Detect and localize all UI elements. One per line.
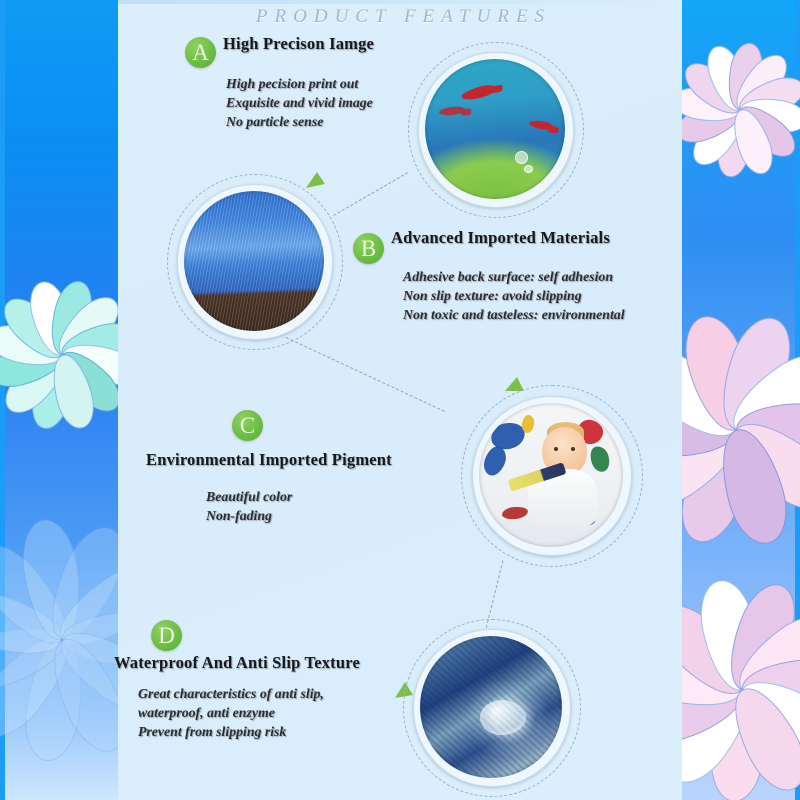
feature-body-d: Great characteristics of anti slip, wate…: [138, 684, 324, 741]
feature-d-line-1: Great characteristics of anti slip,: [138, 684, 324, 703]
koi-fish-icon: [439, 105, 466, 116]
connector-b-to-c: [286, 337, 445, 412]
feature-b-line-3: Non toxic and tasteless: environmental: [403, 305, 625, 324]
blue-fabric-photo: [165, 172, 345, 352]
paint-splatter-icon: [521, 414, 535, 433]
product-features-infographic: PRODUCT FEATURES A High Precison Iamge H…: [0, 0, 800, 800]
baby-eye: [571, 447, 575, 451]
feature-badge-b: B: [353, 233, 384, 264]
feature-b-line-1: Adhesive back surface: self adhesion: [403, 267, 625, 286]
water-bubble-icon: [515, 151, 528, 164]
feature-badge-c: C: [232, 410, 263, 441]
feature-a-line-2: Exquisite and vivid image: [226, 93, 373, 112]
water-droplet-icon: [480, 700, 527, 736]
waterproof-surface-photo: [401, 617, 583, 799]
feature-badge-a: A: [185, 37, 216, 68]
photo-b-image: [184, 191, 324, 331]
baby-eye: [554, 447, 558, 451]
feature-heading-d: Waterproof And Anti Slip Texture: [114, 653, 360, 673]
feature-b-line-2: Non slip texture: avoid slipping: [403, 286, 625, 305]
paint-splatter-icon: [588, 444, 613, 474]
feature-badge-d: D: [151, 620, 182, 651]
feature-body-c: Beautiful color Non-fading: [206, 487, 292, 525]
feature-a-line-1: High pecision print out: [226, 74, 373, 93]
feature-a-line-3: No particle sense: [226, 112, 373, 131]
feature-d-line-3: Prevent from slipping risk: [138, 722, 324, 741]
photo-d-image: [420, 636, 562, 778]
feature-heading-c: Environmental Imported Pigment: [146, 450, 392, 470]
content-panel: PRODUCT FEATURES A High Precison Iamge H…: [118, 0, 682, 800]
feature-c-line-2: Non-fading: [206, 506, 292, 525]
paint-splatter-icon: [501, 505, 528, 520]
water-bubble-icon: [524, 165, 533, 173]
baby-painting-photo: [459, 383, 645, 569]
photo-c-image: [479, 403, 623, 547]
right-decorative-strip: [682, 0, 800, 800]
koi-pond-photo: [406, 40, 586, 220]
feature-body-b: Adhesive back surface: self adhesion Non…: [403, 267, 625, 324]
feature-d-line-2: waterproof, anti enzyme: [138, 703, 324, 722]
photo-a-image: [425, 59, 565, 199]
feature-heading-a: High Precison Iamge: [223, 34, 374, 54]
page-title: PRODUCT FEATURES: [118, 6, 682, 28]
feature-c-line-1: Beautiful color: [206, 487, 292, 506]
left-decorative-strip: [0, 0, 118, 800]
feature-heading-b: Advanced Imported Materials: [391, 228, 610, 248]
feature-body-a: High pecision print out Exquisite and vi…: [226, 74, 373, 131]
koi-fish-icon: [528, 119, 553, 131]
koi-fish-icon: [461, 83, 499, 102]
panel-top-divider: [118, 0, 682, 4]
